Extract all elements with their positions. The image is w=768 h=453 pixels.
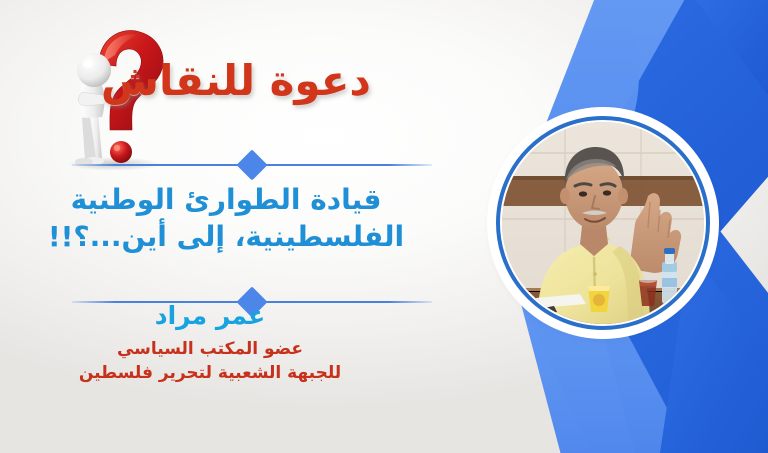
speaker-portrait-photo [502, 122, 704, 324]
speaker-role: عضو المكتب السياسي [0, 337, 420, 362]
speaker-name: عمر مراد [0, 302, 420, 331]
speaker-block: عمر مراد عضو المكتب السياسي للجبهة الشعب… [0, 302, 420, 386]
poster-headline: قيادة الطوارئ الوطنية الفلسطينية، إلى أي… [0, 182, 452, 256]
headline-line-2: الفلسطينية، إلى أين...؟!! [16, 219, 436, 256]
poster-title: دعوة للنقاش [101, 58, 371, 104]
poster-title-wrap: دعوة للنقاش [0, 58, 452, 104]
discussion-invitation-poster: دعوة للنقاش قيادة الطوارئ الوطنية الفلسط… [0, 0, 768, 453]
headline-line-1: قيادة الطوارئ الوطنية [16, 182, 436, 219]
speaker-organization: للجبهة الشعبية لتحرير فلسطين [0, 361, 420, 386]
content-column: دعوة للنقاش قيادة الطوارئ الوطنية الفلسط… [0, 0, 470, 453]
speaker-portrait [492, 112, 714, 334]
divider-top [72, 150, 432, 180]
diamond-accent-icon [236, 149, 267, 180]
